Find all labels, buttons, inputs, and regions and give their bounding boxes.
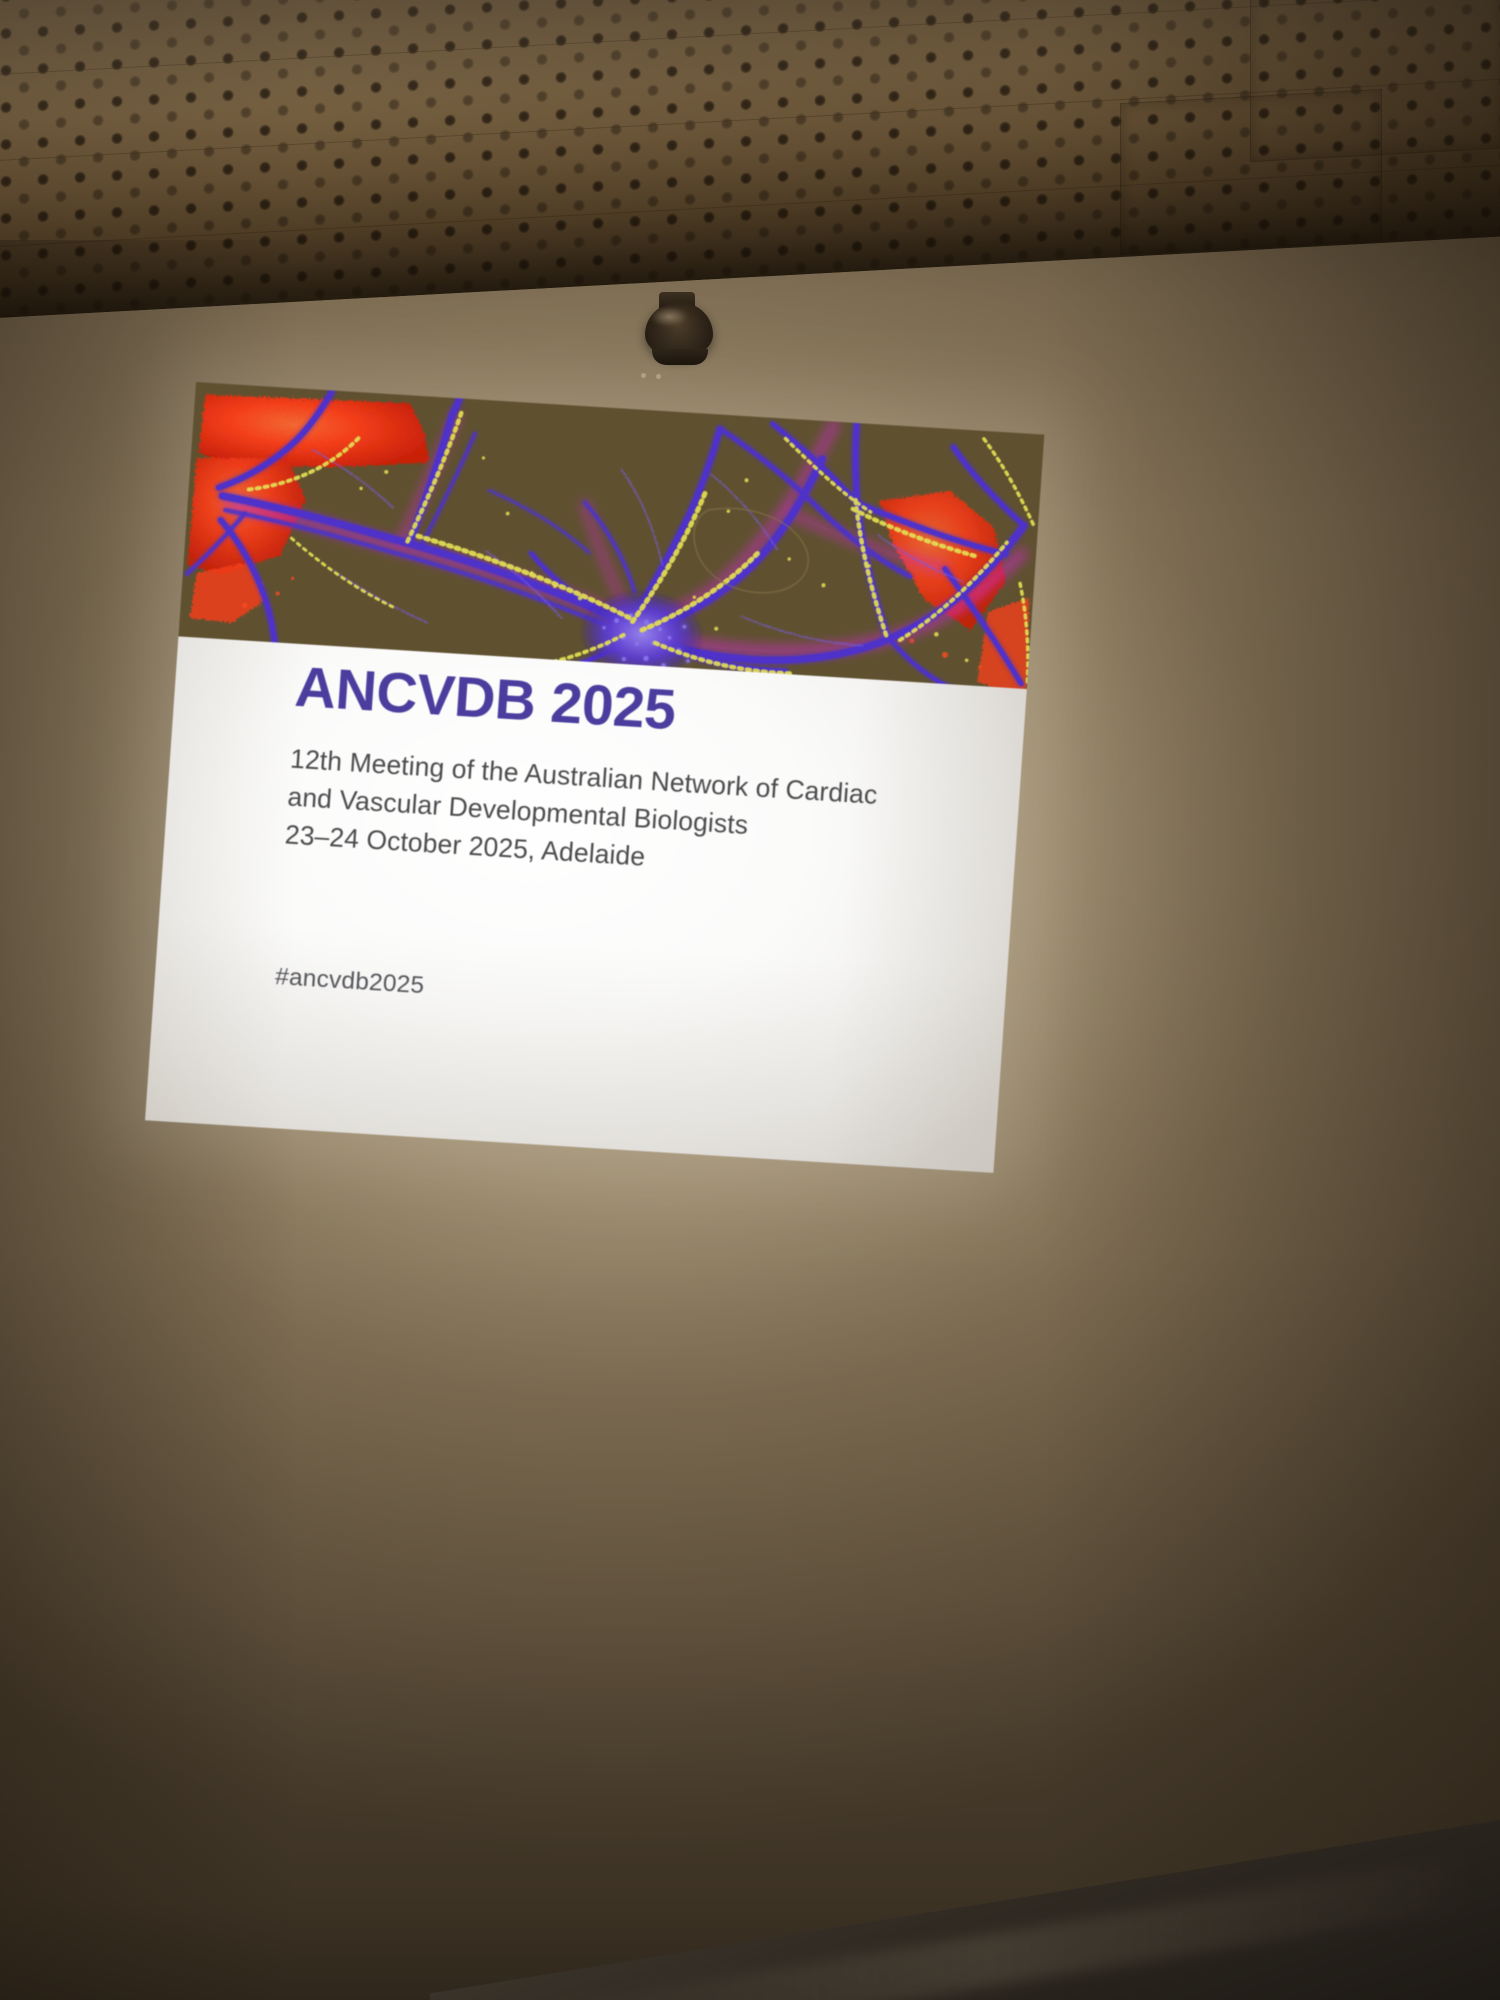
dome-camera-base [652,349,708,365]
slide-vignette [145,636,1027,1172]
slide-surface: ANCVDB 2025 12th Meeting of the Australi… [145,382,1044,1173]
room-scene: ANCVDB 2025 12th Meeting of the Australi… [0,0,1500,2000]
camera-led-icon [641,373,646,378]
slide-body: ANCVDB 2025 12th Meeting of the Australi… [145,636,1027,1172]
camera-led-icon-2 [656,374,661,379]
projected-slide[interactable]: ANCVDB 2025 12th Meeting of the Australi… [145,382,1044,1173]
wall-right-falloff [1040,0,1500,2000]
